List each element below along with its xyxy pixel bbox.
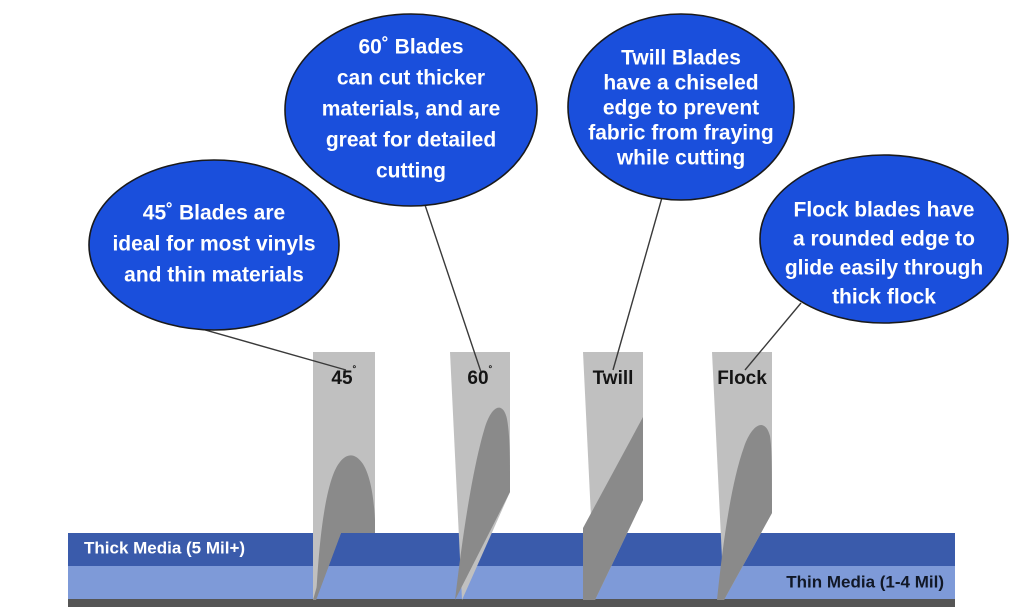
- blade-comparison-diagram: 45˚ 60˚ Twill Flock: [0, 0, 1020, 612]
- thin-media-label: Thin Media (1-4 Mil): [786, 572, 944, 591]
- callout-flock-text: thick flock: [832, 286, 936, 309]
- leader-line-twill: [613, 194, 663, 370]
- callout-flock[interactable]: Flock blades have a rounded edge to glid…: [760, 155, 1008, 323]
- callout-60-degree-text: 60˚ Blades: [358, 36, 463, 59]
- callout-60-degree-text: can cut thicker: [337, 67, 485, 90]
- callout-45-degree-text: 45˚ Blades are: [143, 202, 285, 225]
- callout-60-degree[interactable]: 60˚ Blades can cut thicker materials, an…: [285, 14, 537, 206]
- callout-twill-text: while cutting: [616, 147, 745, 170]
- callout-twill-text: Twill Blades: [621, 47, 741, 70]
- callout-twill[interactable]: Twill Blades have a chiseled edge to pre…: [568, 14, 794, 200]
- callout-60-degree-text: materials, and are: [322, 98, 501, 121]
- blade-twill-label: Twill: [593, 368, 634, 389]
- callout-flock-text: glide easily through: [785, 257, 983, 280]
- callout-twill-text: have a chiseled: [603, 72, 758, 95]
- leader-line-60: [424, 202, 481, 372]
- blade-flock-label: Flock: [717, 368, 767, 389]
- callout-45-degree-text: and thin materials: [124, 264, 304, 287]
- callout-60-degree-text: great for detailed: [326, 129, 496, 152]
- callout-60-degree-text: cutting: [376, 160, 446, 183]
- leader-line-flock: [745, 303, 801, 370]
- callout-flock-text: Flock blades have: [794, 199, 975, 222]
- callout-45-degree-text: ideal for most vinyls: [112, 233, 315, 256]
- callout-twill-text: fabric from fraying: [588, 122, 774, 145]
- callout-twill-text: edge to prevent: [603, 97, 759, 120]
- diagram-canvas: 45˚ 60˚ Twill Flock: [0, 0, 1020, 612]
- cutting-mat-base-bar: [68, 599, 955, 607]
- callout-flock-text: a rounded edge to: [793, 228, 975, 251]
- thick-media-label: Thick Media (5 Mil+): [84, 538, 245, 557]
- callout-45-degree[interactable]: 45˚ Blades are ideal for most vinyls and…: [89, 160, 339, 330]
